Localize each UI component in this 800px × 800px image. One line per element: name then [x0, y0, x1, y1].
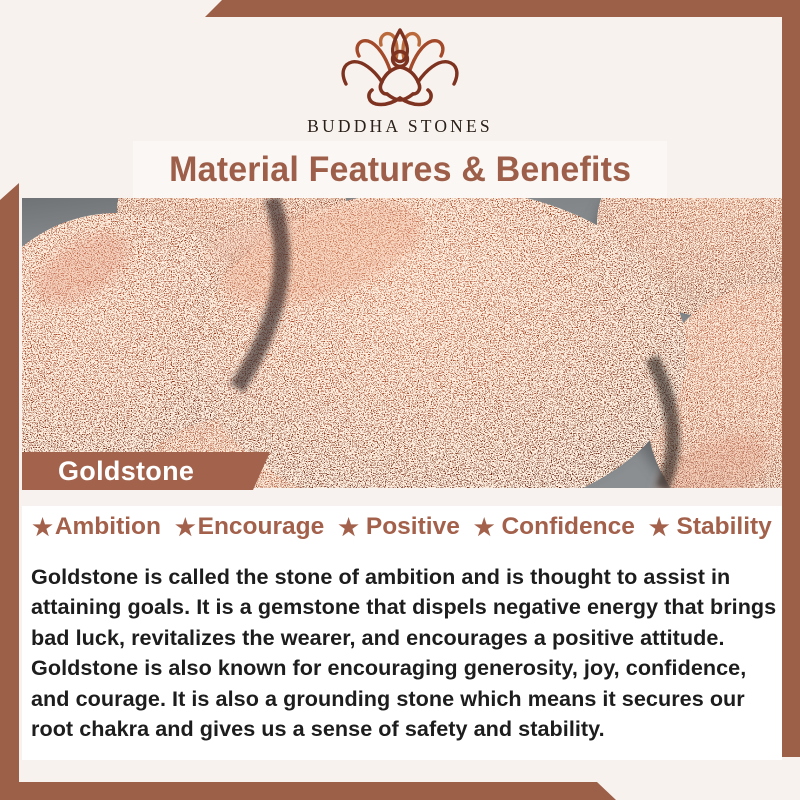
- stone-name-tag: Goldstone: [22, 452, 270, 490]
- star-icon: ★: [338, 516, 359, 539]
- card-top-shade: [22, 490, 782, 506]
- star-icon: ★: [474, 516, 495, 539]
- star-icon: ★: [175, 516, 196, 539]
- feature-label: Stability: [676, 513, 771, 541]
- feature-item-encourage: ★ Encourage: [168, 513, 331, 541]
- content-card: ★ Ambition ★ Encourage ★ Positive ★ Conf…: [22, 490, 782, 760]
- feature-label: Positive: [366, 513, 460, 541]
- star-icon: ★: [649, 516, 670, 539]
- feature-item-positive: ★ Positive: [331, 513, 467, 541]
- feature-item-ambition: ★ Ambition: [25, 513, 168, 541]
- title-plaque: Material Features & Benefits: [133, 141, 667, 198]
- feature-label: Ambition: [55, 513, 161, 541]
- feature-item-stability: ★ Stability: [642, 513, 779, 541]
- stone-photo: [22, 198, 782, 488]
- feature-list: ★ Ambition ★ Encourage ★ Positive ★ Conf…: [22, 513, 782, 541]
- star-icon: ★: [32, 516, 53, 539]
- frame-band-bottom: [0, 782, 800, 800]
- feature-label: Confidence: [501, 513, 634, 541]
- page-title: Material Features & Benefits: [169, 150, 631, 190]
- stone-name-label: Goldstone: [58, 456, 194, 487]
- lotus-meditation-figure-icon: [334, 26, 466, 112]
- feature-label: Encourage: [198, 513, 325, 541]
- feature-item-confidence: ★ Confidence: [467, 513, 642, 541]
- brand-header: BUDDHA STONES: [0, 0, 800, 150]
- stone-description: Goldstone is called the stone of ambitio…: [31, 562, 779, 744]
- brand-name: BUDDHA STONES: [307, 116, 493, 137]
